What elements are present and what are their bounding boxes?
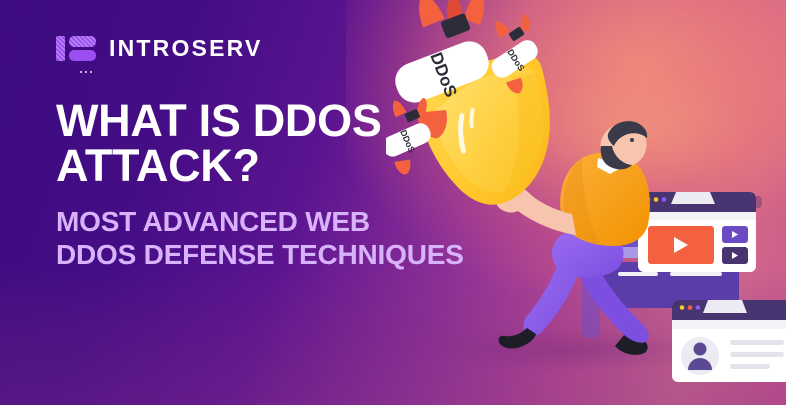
brand-name: INTROSERV [109,37,263,60]
floor-shadow [416,328,716,372]
head [600,121,647,169]
logo-led-dots [80,71,92,73]
logo-bar-top [69,36,96,47]
brand-logo[interactable]: INTROSERV [56,33,263,63]
logo-bar-bottom [69,50,96,61]
profile-window-tab [703,300,747,313]
video-window [638,192,762,272]
ddos-banner: INTROSERV WHAT IS DDOS ATTACK? MOST ADVA… [0,0,786,405]
logo-bar-vertical [56,36,65,61]
eye [630,138,634,142]
hero-illustration: DDoS DDoS DDoS [386,0,786,405]
server-rack-icon [56,33,96,63]
missile-fin-left [407,0,449,35]
profile-window [672,300,786,382]
video-window-tab [671,192,715,204]
